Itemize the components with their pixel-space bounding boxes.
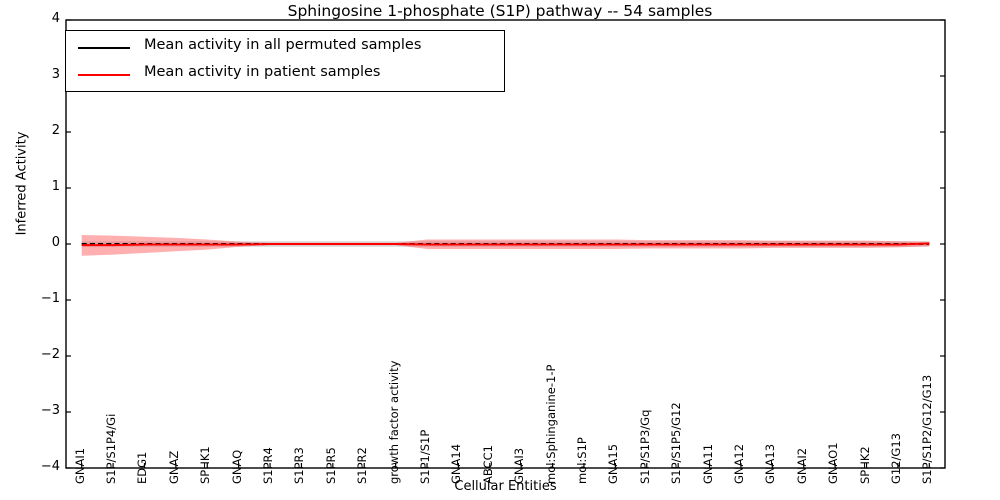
x-tick-label: GNA11 (701, 444, 715, 484)
y-tick-label: 0 (20, 235, 60, 250)
legend-label-patient: Mean activity in patient samples (144, 64, 380, 80)
x-tick-label: mol:S1P (575, 437, 589, 484)
x-tick-label: GNAI2 (795, 448, 809, 484)
x-tick-label: GNA12 (732, 444, 746, 484)
x-tick-label: GNAQ (230, 450, 244, 484)
x-tick-label: S1P/S1P5/G12 (669, 402, 683, 484)
legend-box: Mean activity in all permuted samples Me… (65, 30, 505, 92)
y-tick-label: −2 (20, 347, 60, 362)
legend-label-permuted: Mean activity in all permuted samples (144, 37, 421, 53)
x-tick-label: S1PR4 (261, 447, 275, 484)
legend-entry-permuted: Mean activity in all permuted samples (66, 35, 504, 60)
y-tick-label: 4 (20, 11, 60, 26)
x-tick-label: ABCC1 (481, 445, 495, 484)
x-tick-label: GNA14 (449, 444, 463, 484)
y-tick-label: −3 (20, 403, 60, 418)
y-tick-label: 2 (20, 123, 60, 138)
x-tick-label: EDG1 (135, 452, 149, 484)
x-tick-label: mol:Sphinganine-1-P (544, 365, 558, 484)
mean-line-patient (82, 243, 930, 245)
y-tick-label: 3 (20, 67, 60, 82)
x-tick-label: S1PR5 (324, 447, 338, 484)
y-tick-label: −1 (20, 291, 60, 306)
figure-canvas: Sphingosine 1-phosphate (S1P) pathway --… (0, 0, 1000, 500)
x-tick-label: GNAZ (167, 451, 181, 484)
x-tick-label: growth factor activity (387, 361, 401, 484)
x-tick-label: S1P1/S1P (418, 430, 432, 484)
x-tick-label: S1P/S1P3/Gq (638, 410, 652, 484)
x-tick-label: SPHK2 (858, 446, 872, 484)
x-tick-label: GNAI3 (512, 448, 526, 484)
x-tick-label: GNA13 (763, 444, 777, 484)
x-tick-label: G12/G13 (889, 433, 903, 484)
x-tick-label: GNA15 (606, 444, 620, 484)
x-tick-label: GNAO1 (826, 442, 840, 484)
x-tick-label: SPHK1 (198, 446, 212, 484)
x-tick-label: S1PR2 (355, 447, 369, 484)
y-tick-label: −4 (20, 459, 60, 474)
legend-swatch-patient (78, 74, 130, 76)
legend-swatch-permuted (78, 47, 130, 49)
x-tick-label: GNAI1 (73, 448, 87, 484)
legend-entry-patient: Mean activity in patient samples (66, 62, 504, 87)
x-tick-label: S1P/S1P4/Gi (104, 414, 118, 484)
x-tick-label: S1P/S1P2/G12/G13 (920, 375, 934, 484)
x-tick-label: S1PR3 (292, 447, 306, 484)
y-tick-label: 1 (20, 179, 60, 194)
